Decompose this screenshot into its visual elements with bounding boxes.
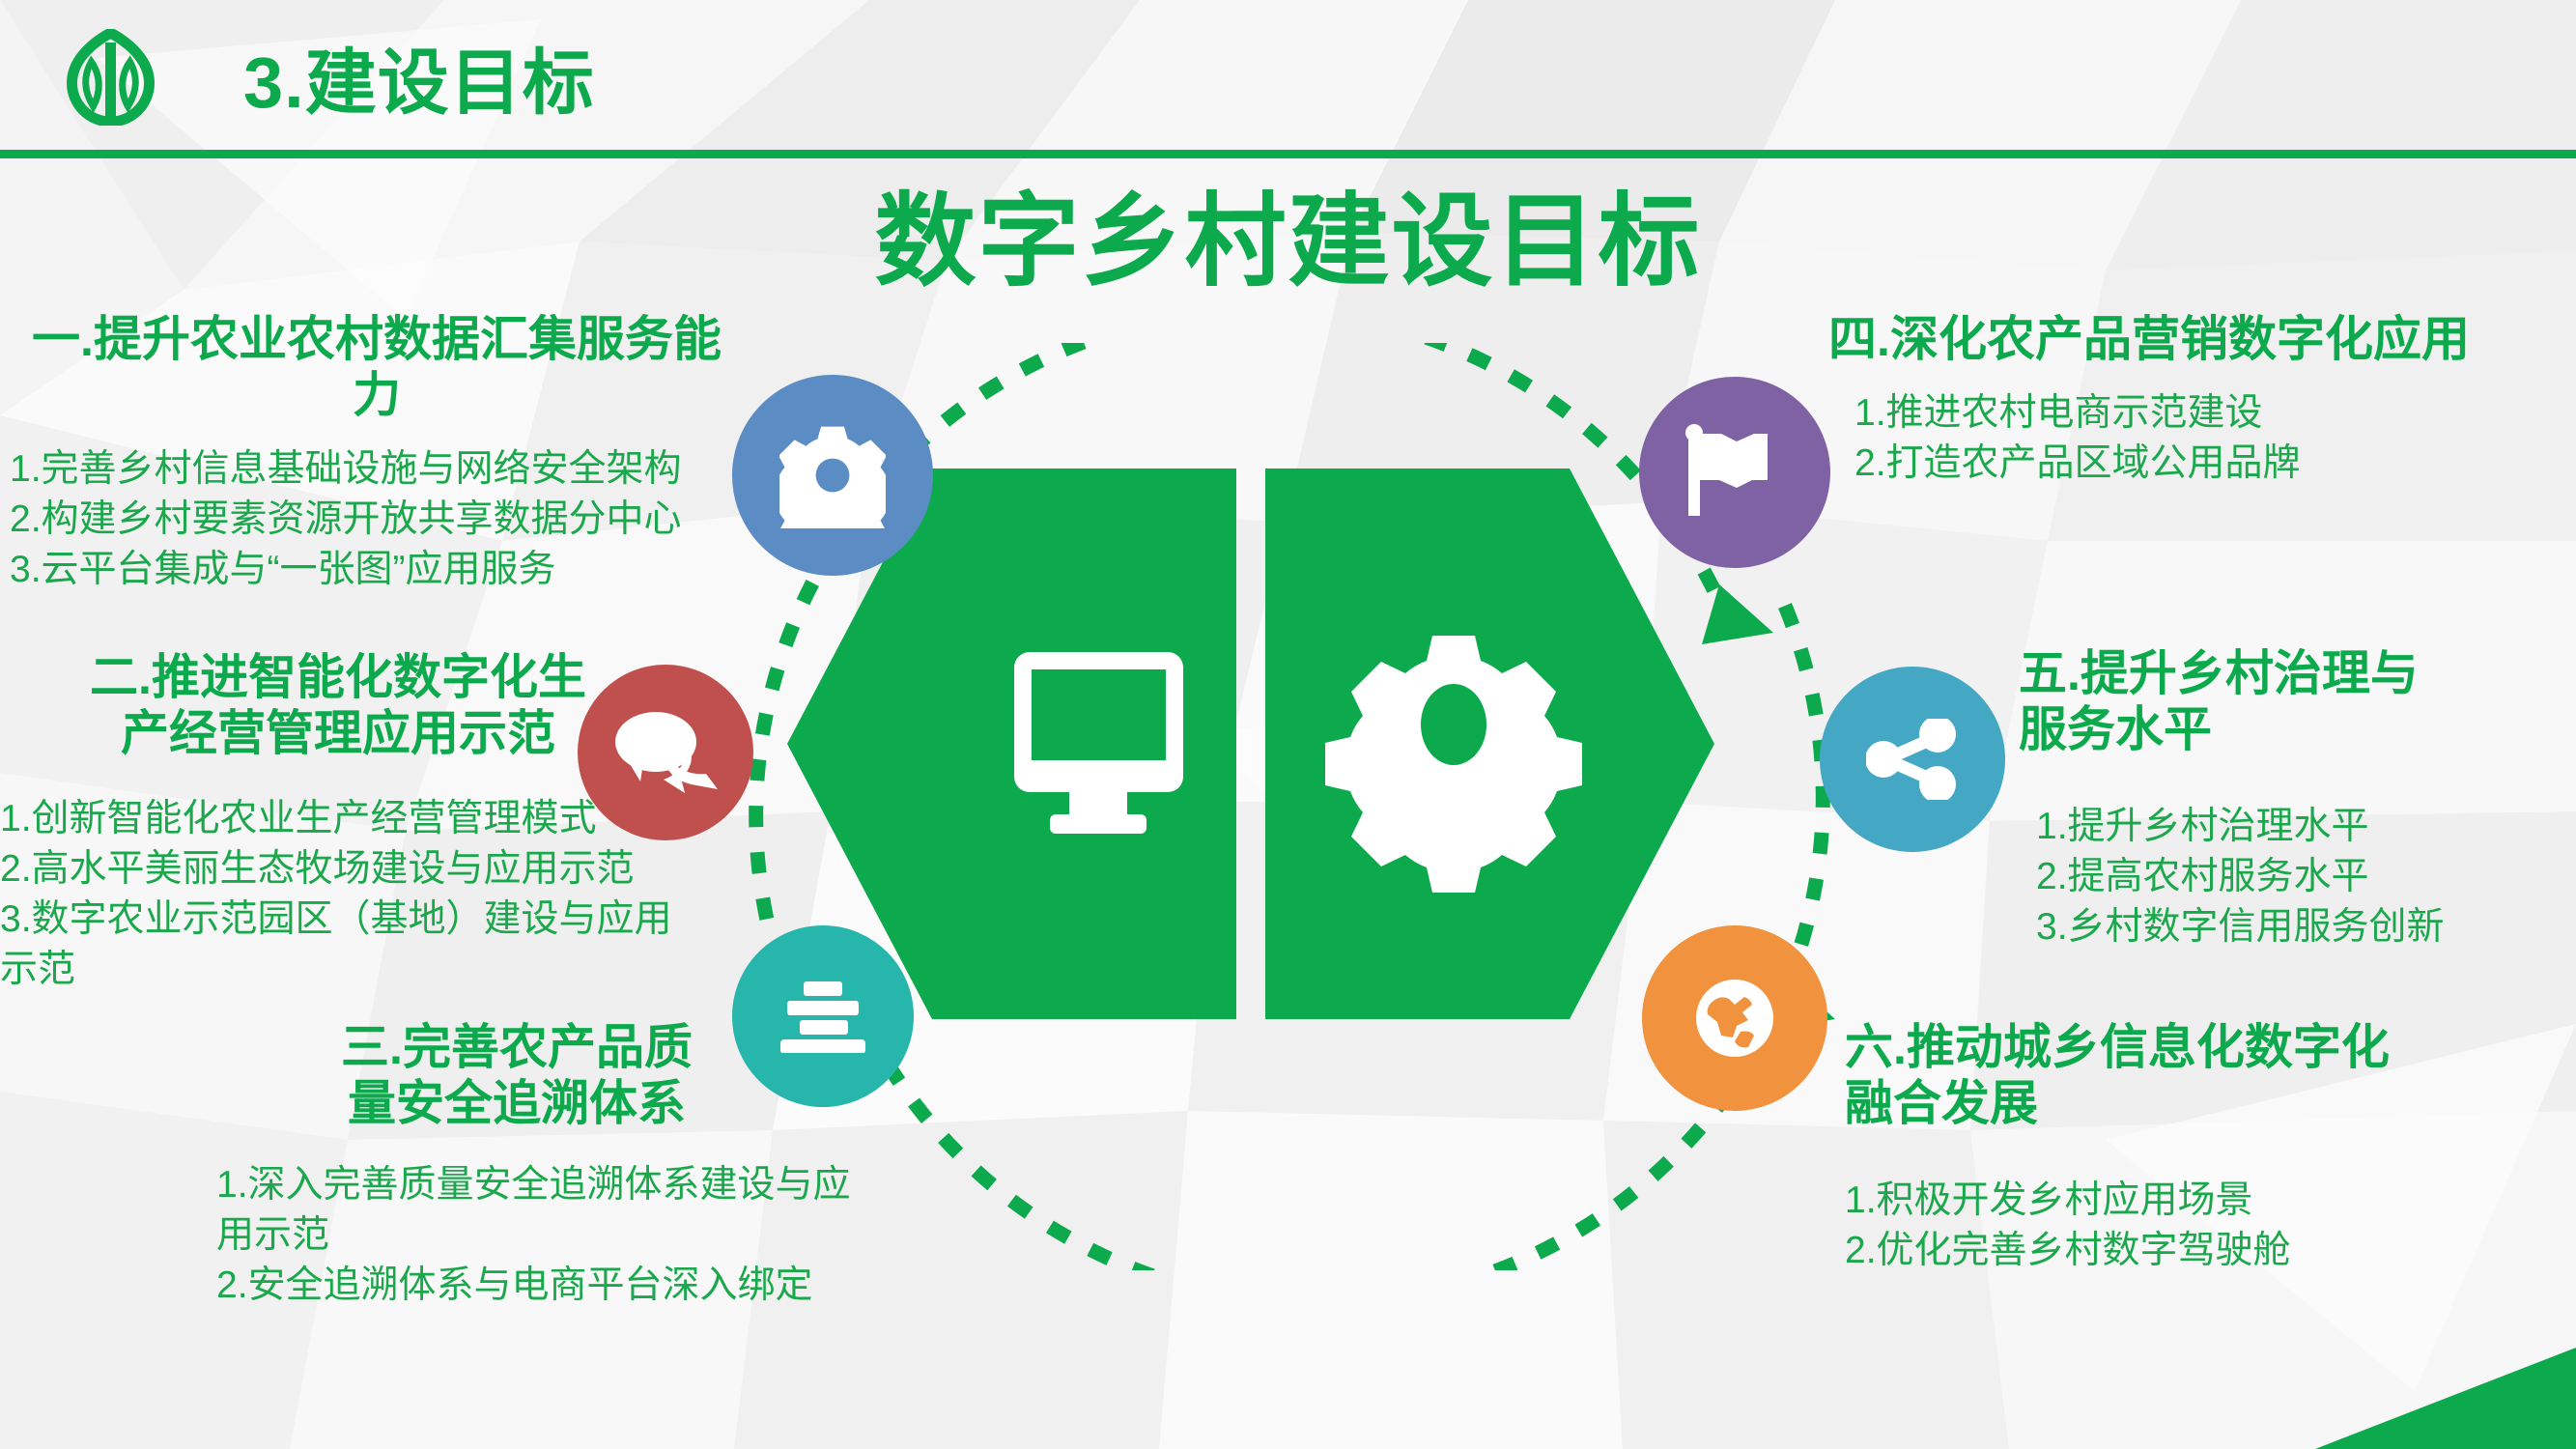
- list-item: 3.数字农业示范园区（基地）建设与应用示范: [0, 895, 676, 995]
- section-two: 二.推进智能化数字化生 产经营管理应用示范 1.创新智能化农业生产经营管理模式 …: [0, 649, 676, 994]
- header-divider: [0, 150, 2576, 158]
- section-four: 四.深化农产品营销数字化应用 1.推进农村电商示范建设 2.打造农产品区域公用品…: [1729, 311, 2569, 489]
- section-five-list: 1.提升乡村治理水平 2.提高农村服务水平 3.乡村数字信用服务创新: [2036, 802, 2569, 952]
- section-two-title: 二.推进智能化数字化生 产经营管理应用示范: [0, 649, 676, 761]
- page-title: 3.建设目标: [243, 25, 595, 128]
- section-five-title: 五.提升乡村治理与 服务水平: [2019, 645, 2569, 757]
- section-four-list: 1.推进农村电商示范建设 2.打造农产品区域公用品牌: [1854, 388, 2569, 489]
- title-line-1: 三.完善农产品质: [174, 1019, 860, 1075]
- share-icon: [1866, 719, 1959, 800]
- list-item: 1.创新智能化农业生产经营管理模式: [0, 794, 676, 844]
- title-line-1: 二.推进智能化数字化生: [0, 649, 676, 705]
- list-item: 2.打造农产品区域公用品牌: [1854, 439, 2569, 489]
- section-three-title: 三.完善农产品质 量安全追溯体系: [174, 1019, 860, 1131]
- list-item: 1.积极开发乡村应用场景: [1845, 1176, 2569, 1226]
- list-item: 3.云平台集成与“一张图”应用服务: [10, 545, 744, 595]
- list-item: 1.提升乡村治理水平: [2036, 802, 2569, 852]
- leaf-icon: [60, 29, 161, 126]
- globe-icon: [1688, 972, 1781, 1065]
- node-icon-five[interactable]: [1820, 667, 2005, 852]
- corner-accent: [2315, 1348, 2576, 1449]
- section-four-title: 四.深化农产品营销数字化应用: [1729, 311, 2569, 367]
- title-line-2: 服务水平: [2019, 701, 2569, 757]
- title-line-1: 五.提升乡村治理与: [2019, 645, 2569, 701]
- list-item: 2.安全追溯体系与电商平台深入绑定: [216, 1261, 860, 1311]
- node-icon-one[interactable]: [732, 375, 933, 576]
- title-line-1: 六.推动城乡信息化数字化: [1845, 1019, 2569, 1075]
- section-one-title: 一.提升农业农村数据汇集服务能力: [10, 311, 744, 423]
- list-item: 2.提高农村服务水平: [2036, 852, 2569, 902]
- section-three-list: 1.深入完善质量安全追溯体系建设与应用示范 2.安全追溯体系与电商平台深入绑定: [216, 1160, 860, 1311]
- list-item: 1.推进农村电商示范建设: [1854, 388, 2569, 439]
- header: 3.建设目标: [0, 0, 2576, 153]
- arrowhead-upper: [1702, 584, 1773, 644]
- slide-canvas: 3.建设目标 数字乡村建设目标: [0, 0, 2576, 1449]
- section-six-title: 六.推动城乡信息化数字化 融合发展: [1845, 1019, 2569, 1131]
- title-line-2: 产经营管理应用示范: [0, 705, 676, 761]
- gear-icon: [779, 422, 886, 528]
- section-two-list: 1.创新智能化农业生产经营管理模式 2.高水平美丽生态牧场建设与应用示范 3.数…: [0, 794, 676, 994]
- section-three: 三.完善农产品质 量安全追溯体系 1.深入完善质量安全追溯体系建设与应用示范 2…: [174, 1019, 860, 1311]
- title-line-2: 融合发展: [1845, 1075, 2569, 1131]
- list-item: 2.高水平美丽生态牧场建设与应用示范: [0, 844, 676, 895]
- main-title: 数字乡村建设目标: [0, 159, 2576, 306]
- section-six-list: 1.积极开发乡村应用场景 2.优化完善乡村数字驾驶舱: [1845, 1176, 2569, 1276]
- section-one-list: 1.完善乡村信息基础设施与网络安全架构 2.构建乡村要素资源开放共享数据分中心 …: [10, 444, 744, 595]
- section-six: 六.推动城乡信息化数字化 融合发展 1.积极开发乡村应用场景 2.优化完善乡村数…: [1845, 1019, 2569, 1276]
- section-one: 一.提升农业农村数据汇集服务能力 1.完善乡村信息基础设施与网络安全架构 2.构…: [10, 311, 744, 595]
- list-item: 1.完善乡村信息基础设施与网络安全架构: [10, 444, 744, 495]
- list-item: 2.优化完善乡村数字驾驶舱: [1845, 1226, 2569, 1276]
- node-icon-six[interactable]: [1642, 925, 1827, 1111]
- title-line-2: 量安全追溯体系: [174, 1075, 860, 1131]
- list-item: 3.乡村数字信用服务创新: [2036, 902, 2569, 952]
- list-item: 2.构建乡村要素资源开放共享数据分中心: [10, 495, 744, 545]
- section-five: 五.提升乡村治理与 服务水平 1.提升乡村治理水平 2.提高农村服务水平 3.乡…: [2019, 645, 2569, 952]
- list-item: 1.深入完善质量安全追溯体系建设与应用示范: [216, 1160, 860, 1261]
